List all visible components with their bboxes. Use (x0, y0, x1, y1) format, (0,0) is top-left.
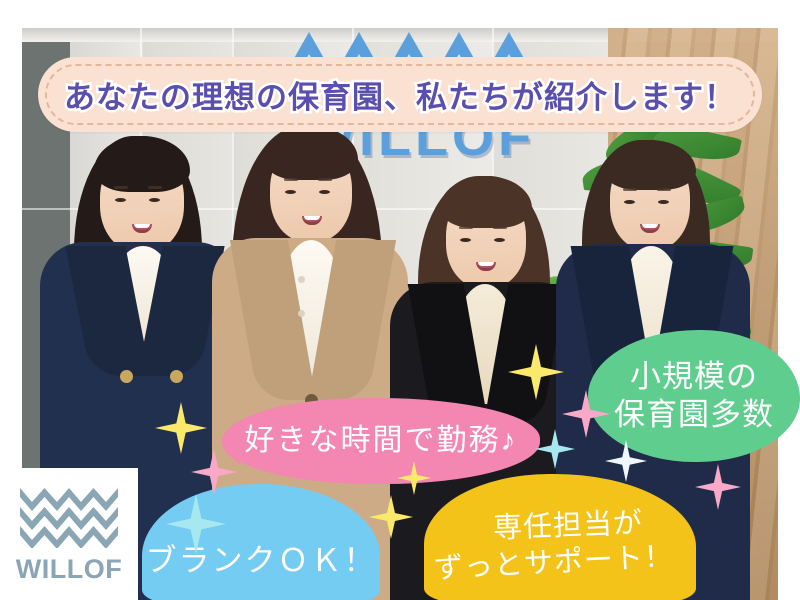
sparkle-icon (508, 344, 564, 400)
sparkle-icon (369, 495, 413, 539)
sparkle-icon (605, 440, 647, 482)
bubble-line: 専任担当が (492, 506, 643, 547)
bubble-flexible-hours: 好きな時間で勤務♪ (222, 398, 540, 484)
sparkle-icon (166, 494, 226, 554)
bubble-line: ずっとサポート！ (433, 540, 675, 588)
bubble-line: 好きな時間で勤務♪ (245, 423, 518, 460)
bubble-line: 保育園多数 (614, 396, 774, 434)
sparkle-icon (695, 464, 741, 510)
sparkle-icon (562, 390, 610, 438)
sparkle-icon (397, 461, 431, 495)
bubble-line: 小規模の (630, 358, 758, 396)
willof-zigzag-icon (20, 486, 118, 548)
sparkle-icon (191, 449, 237, 495)
poster-root: WILLOF (0, 0, 800, 600)
headline-text: あなたの理想の保育園、私たちが紹介します！ (38, 57, 762, 132)
headline-banner: あなたの理想の保育園、私たちが紹介します！ (38, 57, 762, 132)
willof-wordmark: WILLOF (16, 556, 122, 583)
sparkle-icon (155, 402, 207, 454)
willof-logo: WILLOF (0, 468, 138, 600)
